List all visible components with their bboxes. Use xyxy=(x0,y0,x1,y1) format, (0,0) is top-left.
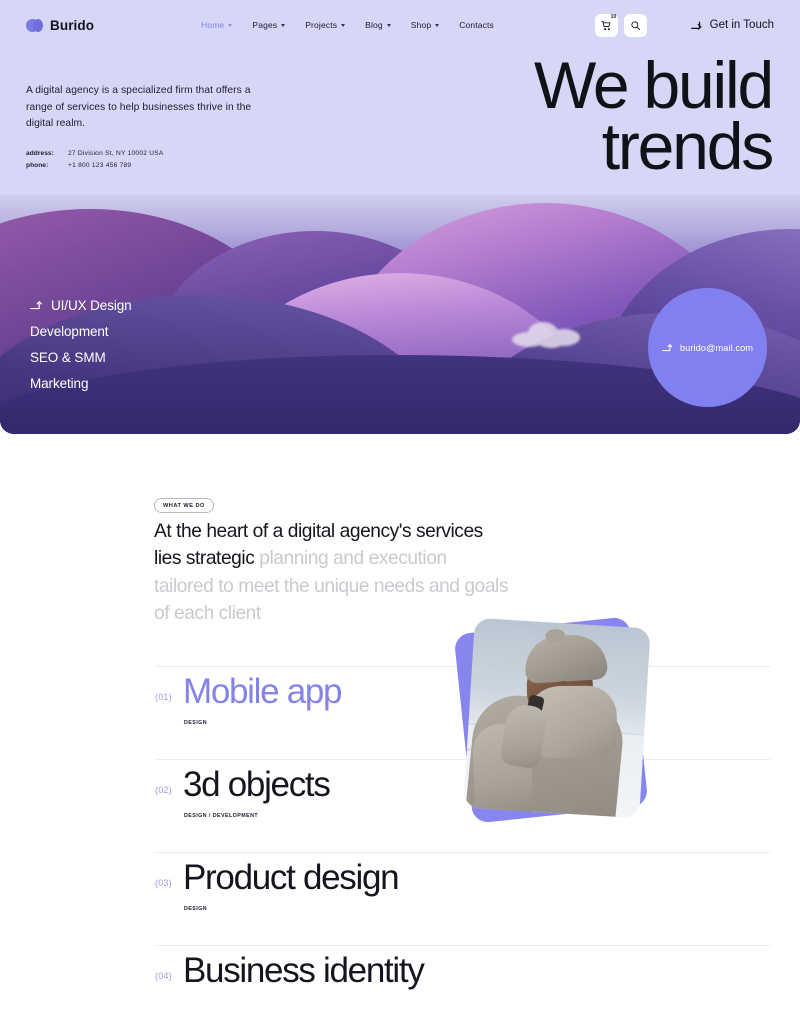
contact-address-row: address: 27 Division St, NY 10002 USA xyxy=(26,150,164,157)
nav-item-home[interactable]: Home xyxy=(201,20,232,30)
hero-service-seo-smm[interactable]: SEO & SMM xyxy=(30,351,132,365)
what-we-do-lede: At the heart of a digital agency's servi… xyxy=(154,518,510,628)
contact-address-value: 27 Division St, NY 10002 USA xyxy=(68,150,164,157)
nav-actions: 10 Get in Touch xyxy=(595,14,800,37)
hero-service-uiux[interactable]: UI/UX Design xyxy=(30,299,132,313)
get-in-touch-label: Get in Touch xyxy=(710,19,774,31)
cart-badge: 10 xyxy=(611,15,617,20)
service-row-tag: DESIGN / DEVELOPMENT xyxy=(184,813,258,819)
service-row-business-identity[interactable]: (04) Business identity xyxy=(0,945,800,1020)
nav-item-projects[interactable]: Projects xyxy=(305,20,345,30)
email-bubble-button[interactable]: burido@mail.com xyxy=(648,288,767,407)
service-row-tag: DESIGN xyxy=(184,906,207,912)
hero-title: We build trends xyxy=(534,55,772,176)
hook-arrow-icon xyxy=(662,343,674,353)
hero-service-label: SEO & SMM xyxy=(30,351,106,365)
service-row-number: (02) xyxy=(155,785,172,795)
contact-phone-row: phone: +1 800 123 456 789 xyxy=(26,162,164,169)
shopping-cart-icon xyxy=(601,20,612,31)
service-row-title: Mobile app xyxy=(183,674,341,711)
nav-item-label: Blog xyxy=(365,20,383,30)
email-bubble-label: burido@mail.com xyxy=(680,343,753,353)
nav-item-label: Projects xyxy=(305,20,337,30)
hero-service-label: Development xyxy=(30,325,108,339)
hero-section: Burido Home Pages Projects Blog xyxy=(0,0,800,434)
service-row-number: (03) xyxy=(155,878,172,888)
chevron-down-icon xyxy=(228,24,232,27)
service-row-number: (01) xyxy=(155,692,172,702)
service-row-title: Business identity xyxy=(183,953,424,990)
service-row-tag: DESIGN xyxy=(184,720,207,726)
nav-item-shop[interactable]: Shop xyxy=(411,20,439,30)
service-row-3d-objects[interactable]: (02) 3d objects DESIGN / DEVELOPMENT xyxy=(0,759,800,852)
service-row-title: 3d objects xyxy=(183,767,330,804)
page-root: Burido Home Pages Projects Blog xyxy=(0,0,800,1020)
hero-top: A digital agency is a specialized firm t… xyxy=(0,50,800,195)
hero-service-list: UI/UX Design Development SEO & SMM Marke… xyxy=(30,299,132,403)
search-button[interactable] xyxy=(624,14,647,37)
chevron-down-icon xyxy=(281,24,285,27)
nav-item-blog[interactable]: Blog xyxy=(365,20,391,30)
nav-item-label: Shop xyxy=(411,20,431,30)
service-rows: (01) Mobile app DESIGN (02) 3d objects D… xyxy=(0,666,800,1020)
service-row-mobile-app[interactable]: (01) Mobile app DESIGN xyxy=(0,666,800,759)
burido-logo-icon xyxy=(26,19,43,32)
service-row-number: (04) xyxy=(155,971,172,981)
cart-button[interactable]: 10 xyxy=(595,14,618,37)
nav-item-label: Pages xyxy=(252,20,277,30)
chevron-down-icon xyxy=(435,24,439,27)
hook-arrow-icon xyxy=(691,20,704,31)
hero-title-line-2: trends xyxy=(534,116,772,177)
cloud-icon xyxy=(512,320,584,348)
contact-address-key: address: xyxy=(26,150,62,157)
hero-service-development[interactable]: Development xyxy=(30,325,132,339)
search-icon xyxy=(630,20,641,31)
contact-phone-key: phone: xyxy=(26,162,62,169)
brand-logo[interactable]: Burido xyxy=(26,18,94,33)
nav-links: Home Pages Projects Blog Shop xyxy=(201,20,494,30)
nav-item-label: Contacts xyxy=(459,20,494,30)
what-we-do-badge[interactable]: WHAT WE DO xyxy=(154,498,214,513)
get-in-touch-button[interactable]: Get in Touch xyxy=(691,19,774,31)
nav-item-label: Home xyxy=(201,20,224,30)
nav-item-pages[interactable]: Pages xyxy=(252,20,285,30)
hero-service-label: Marketing xyxy=(30,377,88,391)
contact-phone-value[interactable]: +1 800 123 456 789 xyxy=(68,162,131,169)
service-row-title: Product design xyxy=(183,860,398,897)
brand-name: Burido xyxy=(50,18,94,33)
hero-service-label: UI/UX Design xyxy=(51,299,132,313)
hero-contact-block: address: 27 Division St, NY 10002 USA ph… xyxy=(26,150,164,174)
hero-service-marketing[interactable]: Marketing xyxy=(30,377,132,391)
what-we-do-badge-label: WHAT WE DO xyxy=(163,503,205,509)
nav-item-contacts[interactable]: Contacts xyxy=(459,20,494,30)
hook-arrow-icon xyxy=(30,300,44,311)
feature-photo-card[interactable] xyxy=(461,623,647,823)
chevron-down-icon xyxy=(341,24,345,27)
hero-blurb: A digital agency is a specialized firm t… xyxy=(26,83,261,133)
chevron-down-icon xyxy=(387,24,391,27)
navbar: Burido Home Pages Projects Blog xyxy=(0,0,800,50)
service-row-product-design[interactable]: (03) Product design DESIGN xyxy=(0,852,800,945)
feature-photo xyxy=(463,618,650,818)
